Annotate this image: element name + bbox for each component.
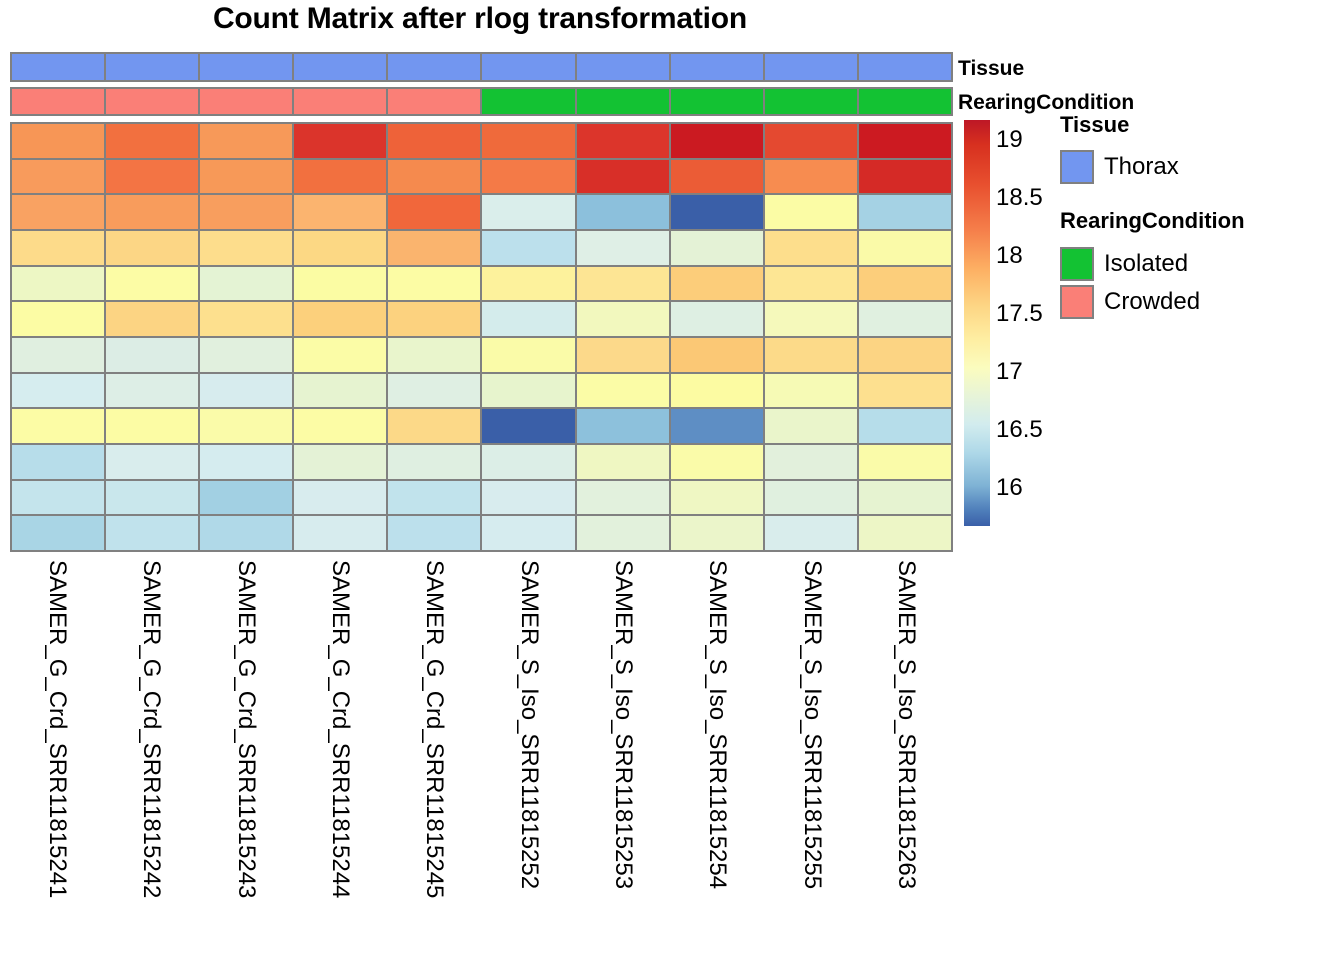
heatmap-cell-3-8 <box>765 231 859 265</box>
annotation-cell-tissue-7 <box>671 54 765 80</box>
heatmap-row <box>12 409 951 445</box>
heatmap-cell-6-8 <box>765 338 859 372</box>
heatmap-cell-9-7 <box>671 445 765 479</box>
heatmap-cell-1-9 <box>859 160 951 194</box>
heatmap-cell-0-8 <box>765 124 859 158</box>
heatmap-row <box>12 481 951 517</box>
heatmap-cell-7-4 <box>388 374 482 408</box>
heatmap-cell-8-0 <box>12 409 106 443</box>
heatmap-cell-3-6 <box>577 231 671 265</box>
heatmap-cell-1-1 <box>106 160 200 194</box>
heatmap-cell-4-3 <box>294 267 388 301</box>
heatmap-cell-1-5 <box>482 160 576 194</box>
page-title: Count Matrix after rlog transformation <box>0 2 960 40</box>
heatmap-cell-10-2 <box>200 481 294 515</box>
annotation-cell-tissue-1 <box>106 54 200 80</box>
heatmap-cell-10-6 <box>577 481 671 515</box>
annotation-cell-tissue-5 <box>482 54 576 80</box>
heatmap-cell-0-4 <box>388 124 482 158</box>
heatmap-cell-4-6 <box>577 267 671 301</box>
colorbar <box>964 120 990 526</box>
annotation-cell-rearing-0 <box>12 89 106 114</box>
colorbar-tick-17.5: 17.5 <box>996 302 1043 326</box>
heatmap-row <box>12 338 951 374</box>
heatmap-cell-10-9 <box>859 481 951 515</box>
annotation-bar-tissue <box>10 52 953 82</box>
heatmap-cell-1-6 <box>577 160 671 194</box>
column-label-5: SAMER_S_Iso_SRR11815252 <box>517 560 541 889</box>
heatmap-cell-8-5 <box>482 409 576 443</box>
legend-title-rearing-condition: RearingCondition <box>1060 208 1245 234</box>
annotation-cell-rearing-2 <box>200 89 294 114</box>
heatmap-cell-0-3 <box>294 124 388 158</box>
heatmap-row <box>12 267 951 303</box>
annotation-bar-rearing-condition <box>10 87 953 116</box>
heatmap-cell-2-3 <box>294 195 388 229</box>
heatmap-cell-7-7 <box>671 374 765 408</box>
annotation-cell-rearing-9 <box>859 89 951 114</box>
heatmap-cell-9-4 <box>388 445 482 479</box>
heatmap-cell-1-4 <box>388 160 482 194</box>
annotation-cell-tissue-9 <box>859 54 951 80</box>
colorbar-tick-19: 19 <box>996 128 1023 152</box>
heatmap-cell-4-5 <box>482 267 576 301</box>
heatmap-cell-9-5 <box>482 445 576 479</box>
legend-swatch-isolated <box>1060 247 1094 281</box>
heatmap-cell-2-8 <box>765 195 859 229</box>
legend-label-isolated: Isolated <box>1104 252 1188 276</box>
heatmap-cell-7-2 <box>200 374 294 408</box>
heatmap-cell-11-1 <box>106 516 200 550</box>
heatmap-cell-10-1 <box>106 481 200 515</box>
heatmap-cell-11-3 <box>294 516 388 550</box>
legend-title-tissue: Tissue <box>1060 112 1129 138</box>
heatmap-cell-9-6 <box>577 445 671 479</box>
heatmap-cell-11-9 <box>859 516 951 550</box>
column-label-9: SAMER_S_Iso_SRR11815263 <box>894 560 918 889</box>
heatmap-cell-9-1 <box>106 445 200 479</box>
heatmap-cell-2-0 <box>12 195 106 229</box>
column-label-3: SAMER_G_Crd_SRR11815244 <box>328 560 352 898</box>
column-label-0: SAMER_G_Crd_SRR11815241 <box>45 560 69 898</box>
heatmap-cell-3-2 <box>200 231 294 265</box>
heatmap-cell-10-0 <box>12 481 106 515</box>
heatmap-cell-2-4 <box>388 195 482 229</box>
heatmap-cell-8-9 <box>859 409 951 443</box>
annotation-cell-rearing-5 <box>482 89 576 114</box>
heatmap-cell-7-9 <box>859 374 951 408</box>
heatmap-cell-10-5 <box>482 481 576 515</box>
heatmap-cell-2-2 <box>200 195 294 229</box>
heatmap-cell-2-6 <box>577 195 671 229</box>
heatmap-cell-5-8 <box>765 302 859 336</box>
annotation-cell-tissue-4 <box>388 54 482 80</box>
annotation-cell-rearing-1 <box>106 89 200 114</box>
heatmap-cell-8-4 <box>388 409 482 443</box>
heatmap-cell-5-6 <box>577 302 671 336</box>
heatmap-cell-2-7 <box>671 195 765 229</box>
colorbar-tick-16: 16 <box>996 476 1023 500</box>
heatmap-cell-3-3 <box>294 231 388 265</box>
heatmap-row <box>12 124 951 160</box>
column-label-7: SAMER_S_Iso_SRR11815254 <box>705 560 729 889</box>
heatmap-cell-2-1 <box>106 195 200 229</box>
heatmap-cell-6-2 <box>200 338 294 372</box>
annotation-label-rearing-condition: RearingCondition <box>958 92 1134 113</box>
legend-item-rearing-crowded[interactable]: Crowded <box>1060 285 1200 319</box>
heatmap-cell-6-7 <box>671 338 765 372</box>
heatmap-cell-3-1 <box>106 231 200 265</box>
heatmap-cell-4-1 <box>106 267 200 301</box>
heatmap-cell-8-1 <box>106 409 200 443</box>
heatmap-row <box>12 160 951 196</box>
column-label-1: SAMER_G_Crd_SRR11815242 <box>139 560 163 898</box>
heatmap-cell-7-5 <box>482 374 576 408</box>
annotation-cell-rearing-6 <box>577 89 671 114</box>
heatmap-cell-7-1 <box>106 374 200 408</box>
heatmap-cell-5-3 <box>294 302 388 336</box>
heatmap-cell-6-6 <box>577 338 671 372</box>
heatmap-cell-3-5 <box>482 231 576 265</box>
heatmap-cell-9-3 <box>294 445 388 479</box>
heatmap-cell-0-1 <box>106 124 200 158</box>
heatmap-row <box>12 231 951 267</box>
heatmap-cell-8-3 <box>294 409 388 443</box>
heatmap-cell-5-7 <box>671 302 765 336</box>
heatmap-cell-0-5 <box>482 124 576 158</box>
heatmap-cell-5-5 <box>482 302 576 336</box>
column-label-8: SAMER_S_Iso_SRR11815255 <box>800 560 824 889</box>
column-label-2: SAMER_G_Crd_SRR11815243 <box>234 560 258 898</box>
annotation-cell-rearing-7 <box>671 89 765 114</box>
heatmap-cell-11-8 <box>765 516 859 550</box>
annotation-cell-rearing-8 <box>765 89 859 114</box>
legend-item-rearing-isolated[interactable]: Isolated <box>1060 247 1188 281</box>
heatmap-cell-7-0 <box>12 374 106 408</box>
heatmap-cell-4-4 <box>388 267 482 301</box>
heatmap-cell-6-1 <box>106 338 200 372</box>
heatmap-cell-9-0 <box>12 445 106 479</box>
heatmap-cell-0-2 <box>200 124 294 158</box>
legend-label-crowded: Crowded <box>1104 290 1200 314</box>
heatmap-row <box>12 374 951 410</box>
heatmap-cell-11-5 <box>482 516 576 550</box>
annotation-cell-tissue-8 <box>765 54 859 80</box>
heatmap-cell-5-2 <box>200 302 294 336</box>
annotation-cell-rearing-3 <box>294 89 388 114</box>
colorbar-tick-18: 18 <box>996 244 1023 268</box>
legend-swatch-thorax <box>1060 150 1094 184</box>
heatmap-cell-2-9 <box>859 195 951 229</box>
heatmap-cell-6-0 <box>12 338 106 372</box>
heatmap-cell-10-4 <box>388 481 482 515</box>
heatmap-cell-9-9 <box>859 445 951 479</box>
heatmap-grid <box>10 122 953 552</box>
heatmap-cell-1-2 <box>200 160 294 194</box>
legend-label-thorax: Thorax <box>1104 155 1179 179</box>
heatmap-cell-4-2 <box>200 267 294 301</box>
annotation-cell-rearing-4 <box>388 89 482 114</box>
heatmap-cell-7-8 <box>765 374 859 408</box>
heatmap-cell-11-6 <box>577 516 671 550</box>
annotation-label-tissue: Tissue <box>958 58 1024 79</box>
heatmap-cell-4-0 <box>12 267 106 301</box>
heatmap-cell-6-4 <box>388 338 482 372</box>
heatmap-cell-8-7 <box>671 409 765 443</box>
heatmap-cell-0-7 <box>671 124 765 158</box>
column-label-6: SAMER_S_Iso_SRR11815253 <box>611 560 635 889</box>
heatmap-cell-6-9 <box>859 338 951 372</box>
heatmap-cell-6-5 <box>482 338 576 372</box>
heatmap-cell-1-0 <box>12 160 106 194</box>
heatmap-cell-4-7 <box>671 267 765 301</box>
heatmap-row <box>12 195 951 231</box>
heatmap-cell-0-0 <box>12 124 106 158</box>
heatmap-cell-5-0 <box>12 302 106 336</box>
heatmap-cell-8-8 <box>765 409 859 443</box>
heatmap-cell-7-3 <box>294 374 388 408</box>
legend-item-tissue-thorax[interactable]: Thorax <box>1060 150 1179 184</box>
heatmap-cell-0-9 <box>859 124 951 158</box>
colorbar-gradient <box>964 120 990 526</box>
heatmap-cell-11-7 <box>671 516 765 550</box>
heatmap-cell-7-6 <box>577 374 671 408</box>
heatmap-cell-5-9 <box>859 302 951 336</box>
heatmap-cell-8-2 <box>200 409 294 443</box>
heatmap-cell-9-2 <box>200 445 294 479</box>
heatmap-row <box>12 516 951 550</box>
heatmap-cell-3-4 <box>388 231 482 265</box>
heatmap-cell-3-9 <box>859 231 951 265</box>
heatmap-cell-10-3 <box>294 481 388 515</box>
heatmap-row <box>12 445 951 481</box>
heatmap-cell-3-7 <box>671 231 765 265</box>
heatmap-cell-10-7 <box>671 481 765 515</box>
heatmap-cell-8-6 <box>577 409 671 443</box>
legend-swatch-crowded <box>1060 285 1094 319</box>
colorbar-tick-17: 17 <box>996 360 1023 384</box>
heatmap-cell-5-1 <box>106 302 200 336</box>
heatmap-cell-1-8 <box>765 160 859 194</box>
heatmap-cell-4-8 <box>765 267 859 301</box>
annotation-cell-tissue-2 <box>200 54 294 80</box>
heatmap-cell-9-8 <box>765 445 859 479</box>
heatmap-column-labels: SAMER_G_Crd_SRR11815241SAMER_G_Crd_SRR11… <box>10 556 953 954</box>
heatmap-cell-2-5 <box>482 195 576 229</box>
heatmap-cell-11-2 <box>200 516 294 550</box>
heatmap-cell-5-4 <box>388 302 482 336</box>
heatmap-cell-11-4 <box>388 516 482 550</box>
heatmap-cell-10-8 <box>765 481 859 515</box>
heatmap-cell-4-9 <box>859 267 951 301</box>
heatmap-cell-1-3 <box>294 160 388 194</box>
colorbar-tick-18.5: 18.5 <box>996 186 1043 210</box>
heatmap-cell-1-7 <box>671 160 765 194</box>
colorbar-tick-16.5: 16.5 <box>996 418 1043 442</box>
column-label-4: SAMER_G_Crd_SRR11815245 <box>422 560 446 898</box>
heatmap-cell-3-0 <box>12 231 106 265</box>
annotation-cell-tissue-6 <box>577 54 671 80</box>
heatmap-cell-6-3 <box>294 338 388 372</box>
heatmap-cell-0-6 <box>577 124 671 158</box>
heatmap-cell-11-0 <box>12 516 106 550</box>
heatmap-row <box>12 302 951 338</box>
annotation-cell-tissue-0 <box>12 54 106 80</box>
annotation-cell-tissue-3 <box>294 54 388 80</box>
